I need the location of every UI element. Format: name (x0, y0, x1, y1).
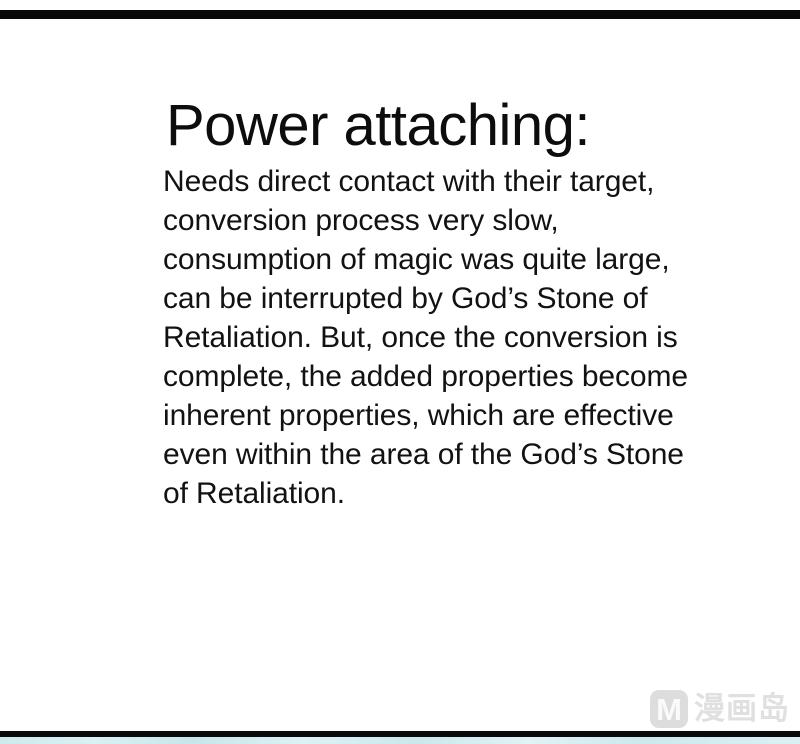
panel-title: Power attaching: (166, 92, 703, 160)
body-line: complete, the added properties become (163, 357, 703, 396)
comic-panel: Power attaching: Needs direct contact wi… (0, 0, 800, 744)
panel-text-block: Power attaching: Needs direct contact wi… (163, 92, 703, 513)
body-line: consumption of magic was quite large, (163, 240, 703, 279)
body-line: inherent properties, which are effective (163, 396, 703, 435)
body-line: conversion process very slow, (163, 201, 703, 240)
watermark-site-name: 漫画岛 (694, 694, 790, 725)
site-watermark: M 漫画岛 (650, 690, 790, 728)
panel-body-text: Needs direct contact with their target, … (163, 162, 703, 513)
body-line: of Retaliation. (163, 474, 703, 513)
body-line: Needs direct contact with their target, (163, 162, 703, 201)
next-panel-strip (0, 737, 800, 744)
watermark-badge-icon: M (650, 690, 688, 728)
body-line: Retaliation. But, once the conversion is (163, 318, 703, 357)
body-line: even within the area of the God’s Stone (163, 435, 703, 474)
body-line: can be interrupted by God’s Stone of (163, 279, 703, 318)
panel-top-border (0, 10, 800, 19)
